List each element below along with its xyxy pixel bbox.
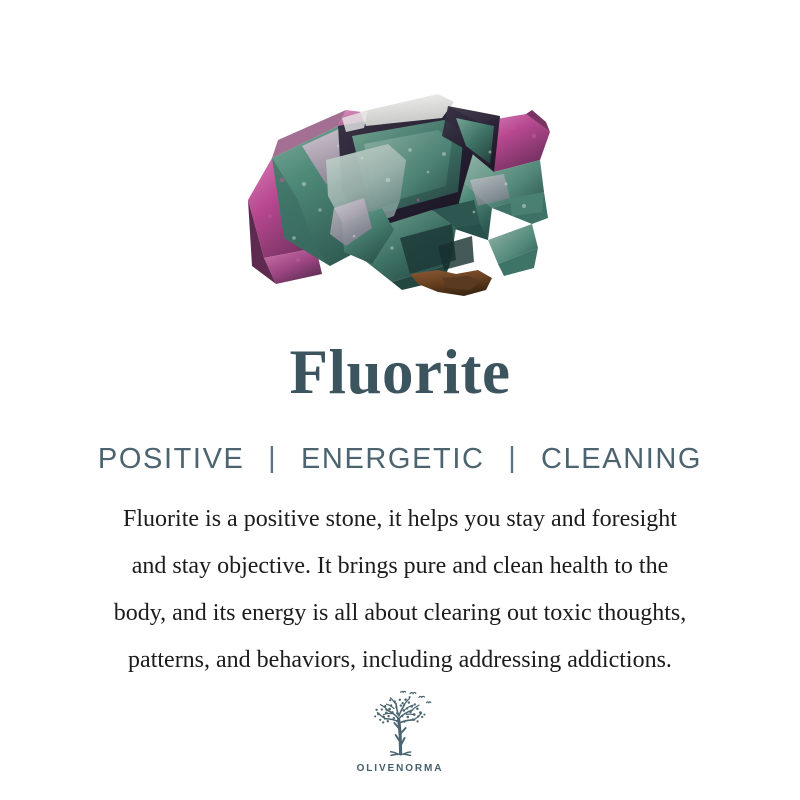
keyword-positive: POSITIVE <box>98 441 245 477</box>
tree-birds <box>401 691 431 702</box>
keyword-separator-2: | <box>494 440 531 476</box>
page-title: Fluorite <box>0 337 800 407</box>
crystal-info-card: Fluorite POSITIVE | ENERGETIC | CLEANING… <box>0 0 800 800</box>
description-block: Fluorite is a positive stone, it helps y… <box>10 496 790 684</box>
brand-logo: OLIVENORMA <box>0 688 800 774</box>
olive-tree-icon <box>364 688 436 760</box>
keyword-energetic: ENERGETIC <box>301 441 485 477</box>
description-line-3: body, and its energy is all about cleari… <box>10 590 790 637</box>
crystal-matrix-base <box>410 270 492 296</box>
keyword-row: POSITIVE | ENERGETIC | CLEANING <box>0 441 800 477</box>
hero-image-container <box>0 88 800 303</box>
description-line-2: and stay objective. It brings pure and c… <box>10 543 790 590</box>
description-line-4: patterns, and behaviors, including addre… <box>10 637 790 684</box>
fluorite-crystal-cluster-photo <box>242 88 558 300</box>
brand-wordmark: OLIVENORMA <box>357 763 444 774</box>
description-line-1: Fluorite is a positive stone, it helps y… <box>10 496 790 543</box>
keyword-separator-1: | <box>254 440 291 476</box>
keyword-cleaning: CLEANING <box>541 441 702 477</box>
